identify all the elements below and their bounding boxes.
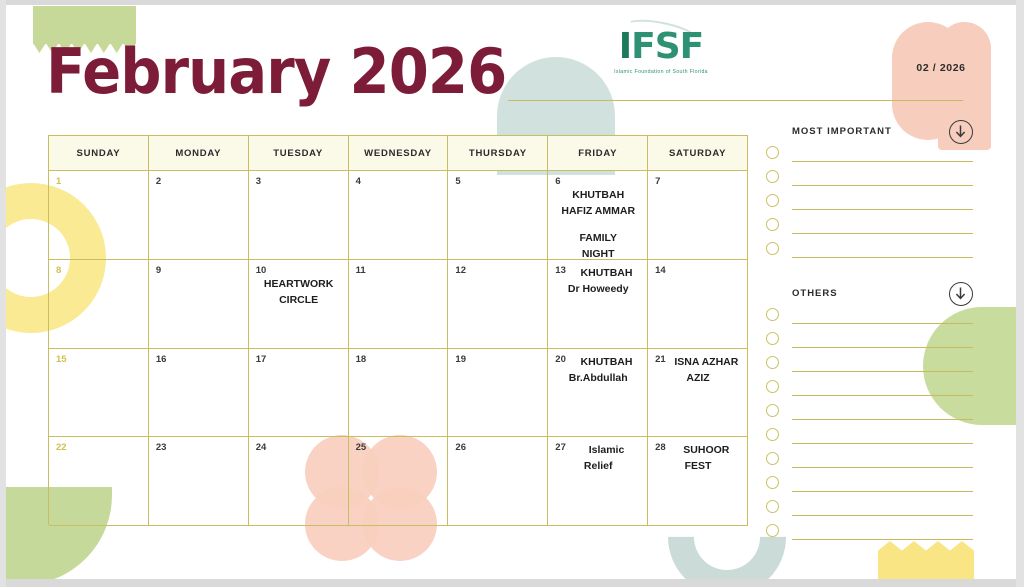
day-cell-22[interactable]: 22	[49, 437, 149, 526]
day-number: 26	[455, 442, 541, 453]
todo-writing-line[interactable]	[792, 257, 973, 258]
todo-writing-line[interactable]	[792, 209, 973, 210]
day-number: 17	[256, 354, 342, 365]
todo-writing-line[interactable]	[792, 443, 973, 444]
day-number: 28	[655, 442, 666, 453]
day-cell-4[interactable]: 4	[349, 171, 449, 260]
todo-checkbox[interactable]	[766, 308, 779, 321]
title-divider	[508, 100, 963, 101]
day-number: 19	[455, 354, 541, 365]
day-number: 25	[356, 442, 442, 453]
todo-row[interactable]	[766, 402, 973, 426]
todo-writing-line[interactable]	[792, 395, 973, 396]
logo-wordmark: IFSF	[598, 28, 724, 66]
day-number: 16	[156, 354, 242, 365]
todo-writing-line[interactable]	[792, 233, 973, 234]
day-number: 9	[156, 265, 242, 276]
day-number: 24	[256, 442, 342, 453]
day-number: 14	[655, 265, 741, 276]
day-number: 6	[555, 176, 641, 187]
todo-row[interactable]	[766, 450, 973, 474]
todo-writing-line[interactable]	[792, 161, 973, 162]
calendar-page: February 2026 IFSF Islamic Foundation of…	[0, 0, 1024, 587]
todo-row[interactable]	[766, 426, 973, 450]
todo-row[interactable]	[766, 330, 973, 354]
day-cell-8[interactable]: 8	[49, 260, 149, 349]
todo-row[interactable]	[766, 378, 973, 402]
day-number: 18	[356, 354, 442, 365]
logo-subtitle: Islamic Foundation of South Florida	[598, 69, 724, 75]
todo-checkbox[interactable]	[766, 242, 779, 255]
todo-row[interactable]	[766, 306, 973, 330]
day-number: 15	[56, 354, 142, 365]
todo-row[interactable]	[766, 498, 973, 522]
most-important-panel: MOST IMPORTANT	[766, 126, 973, 264]
day-number: 1	[56, 176, 142, 187]
todo-writing-line[interactable]	[792, 467, 973, 468]
day-number: 8	[56, 265, 142, 276]
todo-row[interactable]	[766, 522, 973, 546]
weekday-header-saturday: SATURDAY	[648, 136, 748, 171]
todo-writing-line[interactable]	[792, 419, 973, 420]
calendar-header: February 2026 IFSF Islamic Foundation of…	[0, 0, 1024, 124]
todo-checkbox[interactable]	[766, 380, 779, 393]
todo-writing-line[interactable]	[792, 371, 973, 372]
day-number: 12	[455, 265, 541, 276]
event-label[interactable]: SUHOOR	[655, 443, 741, 458]
todo-checkbox[interactable]	[766, 218, 779, 231]
day-cell-1[interactable]: 1	[49, 171, 149, 260]
day-cell-19[interactable]: 19	[448, 349, 548, 438]
weekday-header-thursday: THURSDAY	[448, 136, 548, 171]
page-edge-top	[0, 0, 1024, 5]
weekday-header-sunday: SUNDAY	[49, 136, 149, 171]
event-label[interactable]: Relief	[555, 459, 641, 474]
todo-row[interactable]	[766, 240, 973, 264]
day-number: 3	[256, 176, 342, 187]
arrow-down-circle-icon[interactable]	[949, 120, 973, 144]
event-label[interactable]: FAMILY	[555, 231, 641, 246]
day-cell-21[interactable]: 21ISNA AZHARAZIZ	[648, 349, 748, 438]
day-number: 27	[555, 442, 566, 453]
todo-checkbox[interactable]	[766, 428, 779, 441]
day-cell-25[interactable]: 25	[349, 437, 449, 526]
event-label[interactable]: KHUTBAH	[555, 188, 641, 203]
date-badge: 02 / 2026	[903, 62, 979, 74]
todo-row[interactable]	[766, 474, 973, 498]
event-label[interactable]: HEARTWORK	[256, 277, 342, 292]
day-cell-10[interactable]: 10HEARTWORKCIRCLE	[249, 260, 349, 349]
todo-checkbox[interactable]	[766, 524, 779, 537]
day-number: 11	[356, 265, 442, 276]
day-cell-3[interactable]: 3	[249, 171, 349, 260]
day-number: 20	[555, 354, 566, 365]
page-edge-left	[0, 0, 6, 587]
todo-checkbox[interactable]	[766, 194, 779, 207]
todo-checkbox[interactable]	[766, 170, 779, 183]
arrow-down-circle-icon[interactable]	[949, 282, 973, 306]
weekday-header-friday: FRIDAY	[548, 136, 648, 171]
todo-checkbox[interactable]	[766, 404, 779, 417]
panel-title-most: MOST IMPORTANT	[792, 126, 892, 137]
panel-title-others: OTHERS	[792, 288, 838, 299]
todo-checkbox[interactable]	[766, 356, 779, 369]
day-cell-11[interactable]: 11	[349, 260, 449, 349]
event-label[interactable]: FEST	[655, 459, 741, 474]
todo-row[interactable]	[766, 144, 973, 168]
todo-writing-line[interactable]	[792, 539, 973, 540]
day-cell-2[interactable]: 2	[149, 171, 249, 260]
day-cell-14[interactable]: 14	[648, 260, 748, 349]
day-number: 5	[455, 176, 541, 187]
day-cell-13[interactable]: 13KHUTBAHDr Howeedy	[548, 260, 648, 349]
day-cell-27[interactable]: 27IslamicRelief	[548, 437, 648, 526]
day-cell-17[interactable]: 17	[249, 349, 349, 438]
event-label[interactable]: Islamic	[555, 443, 641, 458]
calendar-grid: SUNDAYMONDAYTUESDAYWEDNESDAYTHURSDAYFRID…	[48, 135, 748, 525]
event-label[interactable]: AZIZ	[655, 371, 741, 386]
todo-row[interactable]	[766, 354, 973, 378]
todo-checkbox[interactable]	[766, 500, 779, 513]
weekday-header-wednesday: WEDNESDAY	[349, 136, 449, 171]
day-cell-20[interactable]: 20KHUTBAHBr.Abdullah	[548, 349, 648, 438]
todo-writing-line[interactable]	[792, 491, 973, 492]
day-cell-6[interactable]: 6KHUTBAHHAFIZ AMMARFAMILYNIGHT	[548, 171, 648, 260]
event-label[interactable]: KHUTBAH	[555, 355, 641, 370]
day-number: 22	[56, 442, 142, 453]
todo-writing-line[interactable]	[792, 185, 973, 186]
weekday-header-monday: MONDAY	[149, 136, 249, 171]
day-number: 7	[655, 176, 741, 187]
day-cell-24[interactable]: 24	[249, 437, 349, 526]
day-number: 13	[555, 265, 566, 276]
event-label[interactable]: NIGHT	[555, 247, 641, 260]
todo-checkbox[interactable]	[766, 332, 779, 345]
event-label[interactable]: ISNA AZHAR	[655, 355, 741, 370]
day-cell-15[interactable]: 15	[49, 349, 149, 438]
panel-header-most: MOST IMPORTANT	[766, 126, 973, 144]
event-label[interactable]: KHUTBAH	[555, 266, 641, 281]
ifsf-logo: IFSF Islamic Foundation of South Florida	[598, 22, 724, 84]
page-edge-right	[1016, 0, 1024, 587]
others-panel: OTHERS	[766, 288, 973, 546]
day-cell-7[interactable]: 7	[648, 171, 748, 260]
day-number: 23	[156, 442, 242, 453]
event-label[interactable]: Br.Abdullah	[555, 371, 641, 386]
todo-row[interactable]	[766, 168, 973, 192]
day-cell-18[interactable]: 18	[349, 349, 449, 438]
logo-letter-i: I	[619, 26, 631, 67]
day-cell-23[interactable]: 23	[149, 437, 249, 526]
day-number: 21	[655, 354, 666, 365]
day-number: 2	[156, 176, 242, 187]
page-edge-bottom	[0, 579, 1024, 587]
day-cell-26[interactable]: 26	[448, 437, 548, 526]
day-cell-5[interactable]: 5	[448, 171, 548, 260]
todo-row[interactable]	[766, 216, 973, 240]
day-number: 4	[356, 176, 442, 187]
logo-letters-fsf: FSF	[631, 26, 703, 67]
day-cell-16[interactable]: 16	[149, 349, 249, 438]
event-label[interactable]: HAFIZ AMMAR	[555, 204, 641, 219]
event-label[interactable]: Dr Howeedy	[555, 282, 641, 297]
panel-header-others: OTHERS	[766, 288, 973, 306]
todo-checkbox[interactable]	[766, 452, 779, 465]
page-title: February 2026	[46, 41, 506, 103]
todo-writing-line[interactable]	[792, 347, 973, 348]
day-number: 10	[256, 265, 342, 276]
event-label[interactable]: CIRCLE	[256, 293, 342, 308]
todo-writing-line[interactable]	[792, 323, 973, 324]
day-cell-28[interactable]: 28SUHOORFEST	[648, 437, 748, 526]
day-cell-9[interactable]: 9	[149, 260, 249, 349]
todo-writing-line[interactable]	[792, 515, 973, 516]
day-cell-12[interactable]: 12	[448, 260, 548, 349]
todo-checkbox[interactable]	[766, 146, 779, 159]
todo-row[interactable]	[766, 192, 973, 216]
weekday-header-tuesday: TUESDAY	[249, 136, 349, 171]
todo-checkbox[interactable]	[766, 476, 779, 489]
